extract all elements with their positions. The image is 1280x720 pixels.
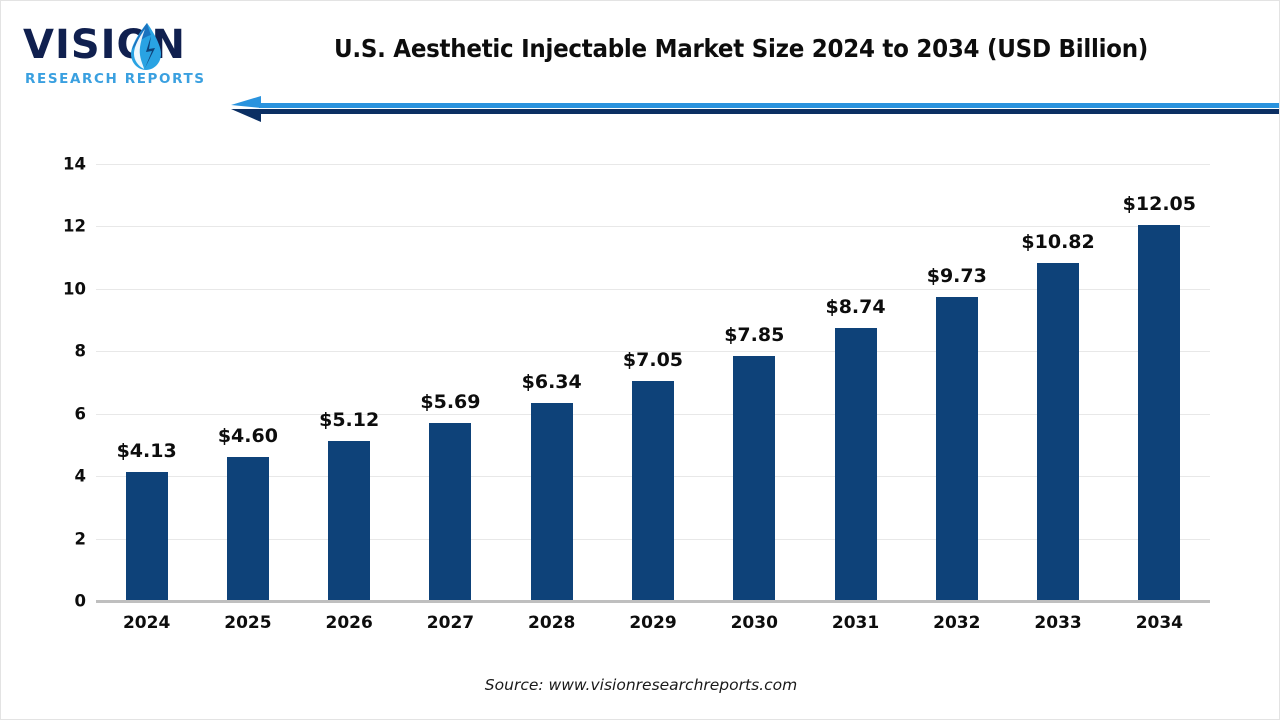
- y-axis-tick-label: 4: [16, 467, 86, 486]
- bar[interactable]: [632, 381, 674, 601]
- arrow-head-light-icon: [231, 96, 261, 108]
- bar-value-label: $7.85: [724, 324, 784, 346]
- bar-slot[interactable]: $4.60: [197, 164, 298, 601]
- bar[interactable]: [1037, 263, 1079, 601]
- bar-value-label: $9.73: [927, 265, 987, 287]
- y-axis-tick-label: 6: [16, 404, 86, 423]
- y-axis-tick-label: 14: [16, 155, 86, 174]
- bar[interactable]: [936, 297, 978, 601]
- x-axis-tick-label: 2026: [326, 613, 373, 633]
- x-axis: 2024202520262027202820292030203120322033…: [96, 613, 1210, 643]
- bar-slot[interactable]: $7.85: [704, 164, 805, 601]
- y-axis-tick-label: 10: [16, 279, 86, 298]
- x-axis-tick-label: 2034: [1136, 613, 1183, 633]
- source-note: Source: www.visionresearchreports.com: [1, 676, 1280, 694]
- y-axis-tick-label: 0: [16, 592, 86, 611]
- bar-slot[interactable]: $9.73: [906, 164, 1007, 601]
- x-axis-tick-label: 2028: [528, 613, 575, 633]
- y-axis-tick-label: 12: [16, 217, 86, 236]
- bar-value-label: $4.60: [218, 425, 278, 447]
- arrow-line-dark: [259, 109, 1279, 114]
- y-axis-tick-label: 2: [16, 529, 86, 548]
- decorative-arrow: [229, 96, 1279, 126]
- x-axis-tick-label: 2029: [629, 613, 676, 633]
- bar-value-label: $4.13: [117, 440, 177, 462]
- bar[interactable]: [1138, 225, 1180, 601]
- water-drop-icon: [121, 22, 163, 72]
- x-axis-tick-label: 2032: [933, 613, 980, 633]
- bar-value-label: $10.82: [1021, 231, 1094, 253]
- chart-page: VISION RESEARCH REPORTS U.S. Aesthetic I…: [0, 0, 1280, 720]
- y-axis-tick-label: 8: [16, 342, 86, 361]
- bar-value-label: $5.12: [319, 409, 379, 431]
- y-axis: 02468101214: [16, 164, 86, 601]
- bar[interactable]: [429, 423, 471, 601]
- x-axis-line: [96, 600, 1210, 603]
- x-axis-tick-label: 2025: [224, 613, 271, 633]
- bar-value-label: $5.69: [420, 391, 480, 413]
- bar-slot[interactable]: $5.12: [299, 164, 400, 601]
- x-axis-tick-label: 2033: [1034, 613, 1081, 633]
- bar[interactable]: [733, 356, 775, 601]
- arrow-head-dark-icon: [231, 109, 261, 122]
- brand-tagline: RESEARCH REPORTS: [25, 71, 206, 87]
- bar-slot[interactable]: $10.82: [1007, 164, 1108, 601]
- bar-slot[interactable]: $7.05: [602, 164, 703, 601]
- bar-slot[interactable]: $12.05: [1109, 164, 1210, 601]
- bar-value-label: $12.05: [1123, 193, 1196, 215]
- bar-series: $4.13$4.60$5.12$5.69$6.34$7.05$7.85$8.74…: [96, 164, 1210, 601]
- x-axis-tick-label: 2027: [427, 613, 474, 633]
- bar[interactable]: [531, 403, 573, 601]
- x-axis-tick-label: 2030: [731, 613, 778, 633]
- bar-slot[interactable]: $5.69: [400, 164, 501, 601]
- bar-value-label: $7.05: [623, 349, 683, 371]
- bar[interactable]: [126, 472, 168, 601]
- bar[interactable]: [835, 328, 877, 601]
- x-axis-tick-label: 2024: [123, 613, 170, 633]
- plot-area: 02468101214 $4.13$4.60$5.12$5.69$6.34$7.…: [96, 164, 1210, 601]
- bar-value-label: $8.74: [825, 296, 885, 318]
- bar[interactable]: [328, 441, 370, 601]
- bar-slot[interactable]: $8.74: [805, 164, 906, 601]
- brand-logo: VISION RESEARCH REPORTS: [23, 21, 213, 93]
- bar[interactable]: [227, 457, 269, 601]
- bar-value-label: $6.34: [522, 371, 582, 393]
- x-axis-tick-label: 2031: [832, 613, 879, 633]
- bar-slot[interactable]: $4.13: [96, 164, 197, 601]
- arrow-line-light: [259, 103, 1279, 108]
- chart-title: U.S. Aesthetic Injectable Market Size 20…: [272, 34, 1210, 63]
- bar-slot[interactable]: $6.34: [501, 164, 602, 601]
